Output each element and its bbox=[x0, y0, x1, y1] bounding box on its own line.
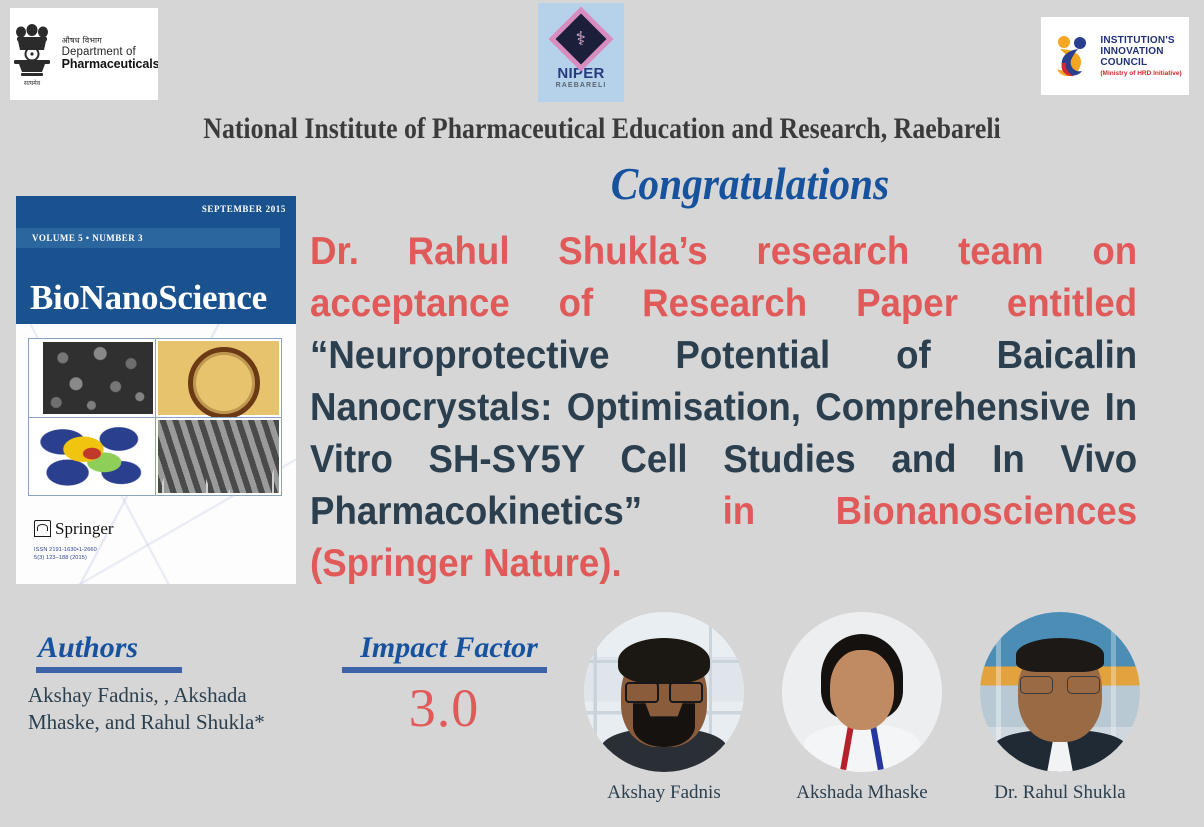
iic-subtitle: (Ministry of HRD Initiative) bbox=[1100, 70, 1181, 77]
journal-volume-number: VOLUME 5 • NUMBER 3 bbox=[16, 233, 143, 243]
figure-protein-ribbon bbox=[29, 417, 155, 495]
journal-volume-band: VOLUME 5 • NUMBER 3 bbox=[16, 228, 280, 248]
portrait-card: Akshada Mhaske bbox=[776, 612, 948, 804]
announcement-text: Dr. Rahul Shukla’s research team on acce… bbox=[310, 226, 1137, 590]
congratulations-heading: Congratulations bbox=[336, 158, 1164, 210]
impact-factor-block: Impact Factor 3.0 bbox=[333, 632, 555, 735]
portrait-card: Dr. Rahul Shukla bbox=[974, 612, 1146, 804]
dop-hindi-label: औषध विभाग bbox=[62, 37, 158, 45]
department-of-pharmaceuticals-logo: सत्यमेव औषध विभाग Department of Pharmace… bbox=[10, 8, 158, 100]
authors-heading-rule bbox=[36, 667, 182, 673]
announcement-segment-1: Dr. Rahul Shukla’s research team on acce… bbox=[310, 230, 1137, 325]
portrait-dr-rahul-shukla bbox=[980, 612, 1140, 772]
eyeglasses-icon bbox=[625, 682, 703, 699]
svg-text:सत्यमेव: सत्यमेव bbox=[23, 79, 40, 87]
iic-line3: COUNCIL bbox=[1100, 57, 1181, 68]
authors-names: Akshay Fadnis, , Akshada Mhaske, and Rah… bbox=[28, 682, 318, 737]
logo-bar: सत्यमेव औषध विभाग Department of Pharmace… bbox=[0, 0, 1204, 108]
institute-title: National Institute of Pharmaceutical Edu… bbox=[84, 112, 1119, 146]
iic-figures-icon bbox=[1052, 33, 1094, 79]
impact-factor-heading: Impact Factor bbox=[333, 632, 555, 664]
journal-figure-grid bbox=[28, 338, 282, 496]
impact-factor-heading-rule bbox=[342, 667, 547, 673]
eyeglasses-icon bbox=[1020, 676, 1100, 692]
authors-block: Authors Akshay Fadnis, , Akshada Mhaske,… bbox=[28, 632, 318, 737]
niper-raebareli-logo: ⚕ NIPER RAEBARELI bbox=[538, 3, 624, 102]
springer-logo: Springer bbox=[34, 520, 114, 537]
ashoka-lion-capital-emblem: सत्यमेव bbox=[10, 19, 55, 89]
journal-cover-header: SEPTEMBER 2015 VOLUME 5 • NUMBER 3 BioNa… bbox=[16, 196, 296, 324]
dop-line2: Pharmaceuticals bbox=[62, 58, 158, 71]
iic-line2: INNOVATION bbox=[1100, 46, 1181, 57]
authors-heading: Authors bbox=[28, 632, 318, 664]
institutions-innovation-council-logo: INSTITUTION'S INNOVATION COUNCIL (Minist… bbox=[1041, 17, 1189, 95]
portrait-akshay-fadnis bbox=[584, 612, 744, 772]
portraits-row: Akshay Fadnis Akshada Mhaske Dr. Rahul S… bbox=[578, 612, 1198, 804]
portrait-card: Akshay Fadnis bbox=[578, 612, 750, 804]
figure-amber-microscopy bbox=[155, 339, 281, 417]
springer-wordmark: Springer bbox=[55, 521, 114, 537]
impact-factor-value: 3.0 bbox=[333, 681, 555, 735]
caduceus-diamond-icon: ⚕ bbox=[548, 6, 613, 71]
journal-cover-body: Springer ISSN 2191-1630•1-2660 5(3) 123–… bbox=[16, 324, 296, 584]
figure-sem-pyramid-array bbox=[155, 417, 281, 495]
iic-line1: INSTITUTION'S bbox=[1100, 35, 1181, 46]
portrait-akshada-mhaske bbox=[782, 612, 942, 772]
dop-line1: Department of bbox=[62, 46, 158, 58]
journal-title: BioNanoScience bbox=[30, 278, 267, 318]
springer-mark-icon bbox=[34, 520, 51, 537]
niper-subtitle: RAEBARELI bbox=[556, 82, 607, 89]
journal-issn: ISSN 2191-1630•1-2660 5(3) 123–188 (2015… bbox=[34, 546, 97, 563]
journal-issue-date: SEPTEMBER 2015 bbox=[202, 204, 286, 214]
figure-sem-nanostructure bbox=[29, 339, 155, 417]
portrait-name: Dr. Rahul Shukla bbox=[974, 782, 1146, 804]
portrait-name: Akshay Fadnis bbox=[578, 782, 750, 804]
journal-cover-image: SEPTEMBER 2015 VOLUME 5 • NUMBER 3 BioNa… bbox=[16, 196, 296, 584]
portrait-name: Akshada Mhaske bbox=[776, 782, 948, 804]
